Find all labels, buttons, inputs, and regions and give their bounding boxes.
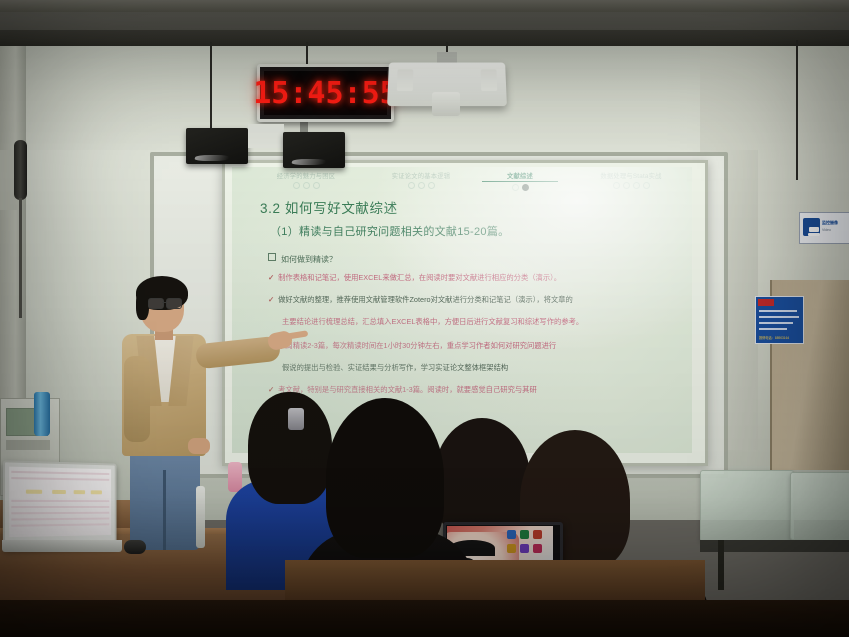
desktop-icon[interactable]	[520, 530, 529, 539]
chair-right-1	[700, 470, 794, 542]
ceiling-duct	[0, 0, 849, 12]
led-clock: 15:45:55	[257, 64, 394, 122]
notice-line	[759, 328, 787, 330]
equipment-notice-sign: 报修电话：88903164	[755, 296, 804, 344]
nav-item-3[interactable]: 数据处理与Stata实战	[572, 171, 690, 189]
desktop-icon[interactable]	[507, 544, 516, 553]
slide-bullet-2: 主要结论进行梳理总结，汇总填入EXCEL表格中，方便日后进行文献复习和综述写作的…	[282, 317, 583, 328]
video-surveillance-sign: 监控摄像 Video	[799, 212, 849, 244]
nav-item-2-dots	[482, 184, 558, 191]
slide-bullet-4-text: 假说的提出与检验、实证结果与分析写作，学习实证论文整体框架结构	[282, 363, 508, 372]
projector-lens	[432, 92, 460, 116]
doc-row	[11, 512, 109, 515]
slide-bullet-1-text: 做好文献的整理，推荐使用文献管理软件Zotero对文献进行分类和记笔记（演示），…	[278, 295, 573, 304]
nav-item-0-label: 经济学的魅力与困区	[250, 171, 362, 180]
projector-vent-left	[397, 69, 414, 91]
doc-row	[11, 518, 109, 521]
nav-dot	[313, 182, 320, 189]
student-mid-head	[434, 418, 530, 538]
ceiling-cable-4	[796, 40, 798, 180]
nav-dot	[633, 182, 640, 189]
microphone-icon	[14, 140, 27, 200]
nav-item-2[interactable]: 文献综述	[482, 171, 558, 191]
nav-item-3-label: 数据处理与Stata实战	[572, 171, 690, 180]
nav-dot	[303, 182, 310, 189]
doc-highlight	[26, 490, 42, 494]
slide-bullet-5-text: 考文献，特别是与研究直接相关的文献1-3篇。阅读时，就要感觉自己研究与其研	[278, 385, 537, 394]
doc-highlight	[74, 490, 85, 494]
doc-row	[11, 477, 109, 481]
doc-highlight	[91, 490, 102, 494]
nav-dot	[643, 182, 650, 189]
speaker-glare	[291, 159, 327, 165]
computer-mouse[interactable]	[124, 540, 146, 554]
hair-clip	[288, 408, 304, 430]
checkbox-icon	[268, 253, 276, 261]
nav-dot	[293, 182, 300, 189]
video-sign-title: 监控摄像	[822, 220, 838, 226]
nav-item-0-dots	[250, 182, 362, 189]
nav-dot	[418, 182, 425, 189]
doc-row	[11, 506, 109, 508]
laptop-left-keyboard[interactable]	[2, 540, 122, 552]
notice-line	[759, 322, 793, 324]
glasses-bridge	[162, 302, 167, 303]
desktop-icon[interactable]	[533, 544, 542, 553]
nav-item-0[interactable]: 经济学的魅力与困区	[250, 171, 362, 189]
slide-bullet-3-text: 本周精读2-3篇，每次精读时间在1小时30分钟左右，重点学习作者如何对研究问题进…	[278, 341, 556, 350]
speaker-glare	[194, 155, 230, 161]
desktop-icon[interactable]	[507, 530, 516, 539]
left-speaker	[186, 128, 248, 164]
wall-junction-box	[248, 124, 284, 148]
nav-dot	[613, 182, 620, 189]
led-clock-display: 15:45:55	[264, 71, 387, 115]
check-icon: ✓	[268, 295, 274, 304]
chair-right-2	[790, 472, 849, 540]
clock-time: 15:45:55	[253, 76, 398, 111]
check-icon: ✓	[268, 385, 274, 394]
camera-body	[809, 227, 819, 232]
doc-row	[11, 471, 109, 475]
classroom-photo: 经济学的魅力与困区 实证论文的基本逻辑 文献综述	[0, 0, 849, 637]
check-icon: ✓	[268, 273, 274, 282]
doc-row	[11, 500, 109, 502]
nav-dot	[428, 182, 435, 189]
doc-highlight	[52, 490, 66, 494]
floor-shadow	[0, 600, 849, 637]
nav-item-1-label: 实证论文的基本逻辑	[365, 171, 477, 180]
slide-bullet-5: ✓考文献，特别是与研究直接相关的文献1-3篇。阅读时，就要感觉自己研究与其研	[268, 385, 537, 396]
presenter-pointer	[196, 486, 205, 548]
nav-dot-active	[522, 184, 529, 191]
nav-dot	[408, 182, 415, 189]
projector-vent-right	[481, 69, 498, 91]
nav-item-1[interactable]: 实证论文的基本逻辑	[365, 171, 477, 189]
slide-subtitle: （1）精读与自己研究问题相关的文献15-20篇。	[270, 223, 509, 239]
nav-item-3-dots	[572, 182, 690, 189]
glasses-lens-right	[166, 298, 182, 309]
instructor-left-arm	[124, 356, 150, 442]
pink-item	[228, 462, 242, 492]
nav-item-2-label: 文献综述	[482, 171, 558, 182]
student-front-dark-head	[326, 398, 444, 558]
camera-icon	[803, 218, 820, 236]
microphone-stand	[19, 198, 22, 318]
chair-leg	[718, 540, 724, 590]
slide-bullet-2-text: 主要结论进行梳理总结，汇总填入EXCEL表格中，方便日后进行文献复习和综述写作的…	[282, 317, 583, 326]
video-sign-subtitle: Video	[822, 228, 831, 232]
slide-title: 3.2 如何写好文献综述	[260, 197, 398, 217]
ceiling-beam	[0, 30, 849, 46]
laptop-left-screen	[9, 467, 111, 538]
laptop-left[interactable]	[3, 460, 117, 550]
instructor-left-hand	[188, 438, 210, 454]
notice-header-bar	[758, 299, 774, 306]
desktop-icon[interactable]	[533, 530, 542, 539]
doc-row	[11, 523, 109, 526]
slide-bullet-0-text: 制作表格和记笔记，使用EXCEL来做汇总，在阅读时要对文献进行相应的分类（演示）…	[278, 273, 561, 282]
slide-bullet-4: 假说的提出与检验、实证结果与分析写作，学习实证论文整体框架结构	[282, 363, 508, 374]
ceiling-cable-1	[210, 42, 212, 132]
nav-item-1-dots	[365, 182, 477, 189]
slide-bullet-1: ✓做好文献的整理，推荐使用文献管理软件Zotero对文献进行分类和记笔记（演示）…	[268, 295, 573, 306]
notice-line	[759, 316, 799, 318]
slide-question-text: 如何做到精读？	[281, 255, 337, 264]
desktop-icon[interactable]	[520, 544, 529, 553]
right-speaker	[283, 132, 345, 168]
slide-question: 如何做到精读？	[268, 253, 337, 265]
nav-dot	[623, 182, 630, 189]
slide-bullet-0: ✓制作表格和记笔记，使用EXCEL来做汇总，在阅读时要对文献进行相应的分类（演示…	[268, 273, 561, 284]
notice-line	[759, 310, 797, 312]
water-bottle	[34, 392, 50, 436]
slide-bullet-3: ✓本周精读2-3篇，每次精读时间在1小时30分钟左右，重点学习作者如何对研究问题…	[268, 341, 556, 352]
glasses-icon	[148, 298, 164, 309]
notice-phone: 报修电话：88903164	[759, 335, 789, 340]
instructor-leg-gap	[163, 470, 166, 550]
cabinet-buttons[interactable]	[6, 440, 50, 450]
desktop-icons	[507, 528, 553, 562]
slide-section-nav: 经济学的魅力与困区 实证论文的基本逻辑 文献综述	[250, 171, 678, 195]
camera-base	[808, 233, 820, 236]
nav-dot	[512, 184, 519, 191]
